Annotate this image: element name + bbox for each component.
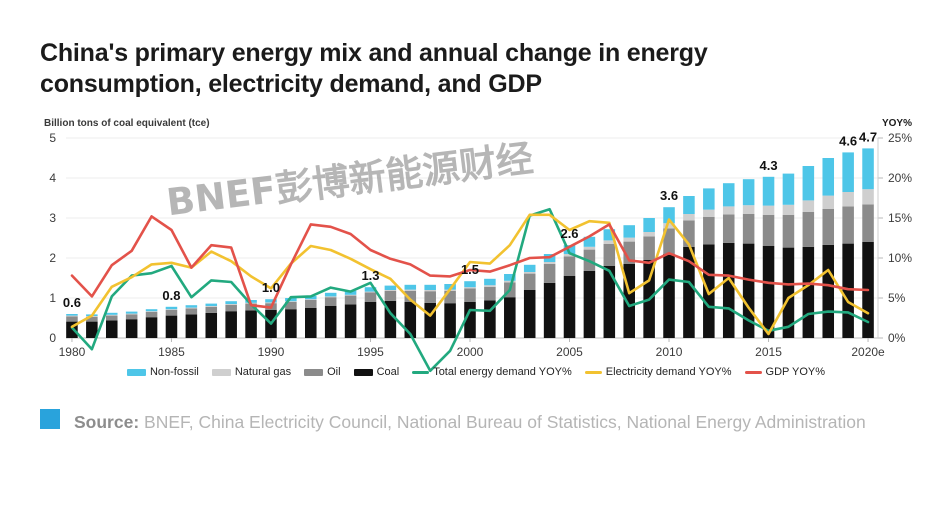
bar-segment bbox=[822, 158, 834, 196]
bar-segment bbox=[484, 279, 496, 285]
bar-segment bbox=[803, 247, 815, 338]
x-axis-tick-label: 2000 bbox=[457, 345, 484, 359]
bar-segment bbox=[186, 308, 198, 309]
y-axis-unit-label: Billion tons of coal equivalent (tce) bbox=[44, 118, 210, 129]
chart-page: China's primary energy mix and annual ch… bbox=[0, 0, 931, 511]
bar-segment bbox=[424, 290, 436, 291]
bar-segment bbox=[822, 245, 834, 338]
bar-segment bbox=[663, 254, 675, 338]
bar-segment bbox=[166, 307, 178, 309]
bar-segment bbox=[385, 290, 397, 291]
source-label: Source: bbox=[74, 412, 139, 432]
bar-value-label: 0.8 bbox=[162, 288, 180, 303]
bar-segment bbox=[623, 225, 635, 237]
bar-segment bbox=[106, 313, 118, 315]
legend-item-label: Natural gas bbox=[235, 366, 291, 378]
bar-segment bbox=[743, 214, 755, 244]
bar-segment bbox=[524, 265, 536, 272]
bar-segment bbox=[146, 317, 158, 338]
bar-segment bbox=[703, 217, 715, 245]
bar-segment bbox=[186, 305, 198, 307]
bar-segment bbox=[66, 316, 78, 321]
legend-item[interactable]: Electricity demand YOY% bbox=[585, 366, 732, 378]
page-title: China's primary energy mix and annual ch… bbox=[40, 38, 830, 100]
bar-segment bbox=[623, 238, 635, 242]
bar-segment bbox=[345, 296, 357, 305]
bar-segment bbox=[225, 301, 237, 304]
bar-segment bbox=[126, 314, 138, 315]
bar-segment bbox=[544, 262, 556, 264]
bar-segment bbox=[504, 281, 516, 283]
bar-segment bbox=[723, 183, 735, 206]
bar-segment bbox=[325, 306, 337, 338]
bar-segment bbox=[504, 297, 516, 338]
y-axis-right-tick-label: 15% bbox=[888, 211, 912, 225]
y-axis-tick-label: 2 bbox=[49, 251, 56, 265]
bar-segment bbox=[405, 285, 417, 290]
bar-segment bbox=[325, 297, 337, 306]
legend-swatch bbox=[354, 369, 373, 376]
source-text: BNEF, China Electricity Council, Nationa… bbox=[139, 412, 866, 432]
energy-mix-chart: 0123450%5%10%15%20%25%198019851990199520… bbox=[36, 120, 916, 375]
bar-segment bbox=[146, 309, 158, 311]
bar-segment bbox=[842, 206, 854, 243]
legend-item[interactable]: Natural gas bbox=[212, 366, 291, 378]
bar-segment bbox=[126, 314, 138, 319]
bar-segment bbox=[166, 309, 178, 310]
y-axis-tick-label: 5 bbox=[49, 131, 56, 145]
bar-value-label: 4.7 bbox=[859, 129, 877, 144]
bar-segment bbox=[205, 304, 217, 306]
bar-segment bbox=[186, 308, 198, 314]
legend-item-label: GDP YOY% bbox=[766, 366, 826, 378]
bar-segment bbox=[305, 308, 317, 338]
bar-segment bbox=[803, 212, 815, 247]
bar-segment bbox=[544, 264, 556, 283]
bar-value-label: 1.0 bbox=[262, 280, 280, 295]
bar-segment bbox=[325, 293, 337, 297]
legend-swatch bbox=[585, 371, 602, 374]
x-axis-tick-label: 2010 bbox=[656, 345, 683, 359]
bar-segment bbox=[524, 274, 536, 290]
legend-item[interactable]: Non-fossil bbox=[127, 366, 199, 378]
bar-segment bbox=[225, 311, 237, 338]
bar-segment bbox=[783, 205, 795, 215]
bar-segment bbox=[106, 320, 118, 338]
bar-segment bbox=[285, 309, 297, 338]
chart-legend: Non-fossilNatural gasOilCoalTotal energy… bbox=[36, 366, 916, 378]
bar-segment bbox=[146, 312, 158, 317]
bar-segment bbox=[842, 152, 854, 192]
legend-swatch bbox=[212, 369, 231, 376]
bar-segment bbox=[842, 244, 854, 338]
bar-segment bbox=[385, 291, 397, 301]
legend-item-label: Oil bbox=[327, 366, 340, 378]
bar-segment bbox=[186, 314, 198, 338]
source-accent-square bbox=[40, 409, 60, 429]
y-axis-tick-label: 4 bbox=[49, 171, 56, 185]
y-axis-right-tick-label: 25% bbox=[888, 131, 912, 145]
y-axis-tick-label: 0 bbox=[49, 331, 56, 345]
bar-segment bbox=[166, 310, 178, 316]
bar-segment bbox=[365, 292, 377, 302]
bar-segment bbox=[584, 271, 596, 338]
y-axis-right-tick-label: 20% bbox=[888, 171, 912, 185]
bar-segment bbox=[345, 295, 357, 296]
legend-item[interactable]: Coal bbox=[354, 366, 400, 378]
bar-segment bbox=[564, 276, 576, 338]
bar-segment bbox=[803, 166, 815, 200]
x-axis-tick-label: 1980 bbox=[59, 345, 86, 359]
bar-segment bbox=[166, 316, 178, 338]
bar-segment bbox=[305, 300, 317, 308]
bar-segment bbox=[205, 313, 217, 338]
bar-segment bbox=[146, 311, 158, 312]
bar-segment bbox=[126, 312, 138, 314]
bar-segment bbox=[424, 303, 436, 338]
bar-segment bbox=[106, 316, 118, 321]
bar-value-label: 0.6 bbox=[63, 295, 81, 310]
y-axis-tick-label: 1 bbox=[49, 291, 56, 305]
bar-segment bbox=[484, 285, 496, 287]
bar-segment bbox=[205, 307, 217, 313]
bar-segment bbox=[464, 287, 476, 288]
bar-value-label: 2.6 bbox=[560, 226, 578, 241]
legend-swatch bbox=[745, 371, 762, 374]
legend-item[interactable]: Oil bbox=[304, 366, 340, 378]
bar-segment bbox=[822, 209, 834, 245]
bar-segment bbox=[783, 174, 795, 205]
legend-item-label: Non-fossil bbox=[150, 366, 199, 378]
bar-segment bbox=[862, 204, 874, 242]
source-note: Source: BNEF, China Electricity Council,… bbox=[40, 405, 900, 439]
bar-segment bbox=[524, 272, 536, 274]
bar-value-label: 1.5 bbox=[461, 262, 479, 277]
bar-segment bbox=[424, 285, 436, 290]
bar-segment bbox=[305, 299, 317, 300]
bar-segment bbox=[842, 192, 854, 206]
x-axis-tick-label: 2020e bbox=[851, 345, 885, 359]
bar-segment bbox=[365, 302, 377, 338]
bar-segment bbox=[225, 305, 237, 311]
y-axis-right-tick-label: 10% bbox=[888, 251, 912, 265]
legend-swatch bbox=[304, 369, 323, 376]
bar-segment bbox=[106, 315, 118, 316]
x-axis-tick-label: 2015 bbox=[755, 345, 782, 359]
bar-segment bbox=[783, 215, 795, 248]
x-axis-tick-label: 1985 bbox=[158, 345, 185, 359]
bar-value-label: 4.3 bbox=[759, 158, 777, 173]
bar-segment bbox=[723, 214, 735, 242]
bar-segment bbox=[584, 247, 596, 250]
bar-segment bbox=[564, 256, 576, 276]
bar-segment bbox=[245, 310, 257, 338]
bar-segment bbox=[385, 286, 397, 290]
x-axis-tick-label: 1990 bbox=[258, 345, 285, 359]
bar-segment bbox=[763, 215, 775, 246]
y-axis-right-tick-label: 5% bbox=[888, 291, 906, 305]
chart-container: Billion tons of coal equivalent (tce) YO… bbox=[36, 120, 916, 395]
bar-segment bbox=[723, 243, 735, 338]
legend-item-label: Electricity demand YOY% bbox=[606, 366, 732, 378]
bar-segment bbox=[524, 290, 536, 338]
legend-item-label: Total energy demand YOY% bbox=[433, 366, 572, 378]
bar-segment bbox=[205, 306, 217, 307]
bar-segment bbox=[683, 196, 695, 214]
bar-segment bbox=[405, 290, 417, 291]
bar-segment bbox=[683, 214, 695, 220]
bar-segment bbox=[862, 148, 874, 189]
bar-segment bbox=[464, 281, 476, 287]
bar-segment bbox=[643, 218, 655, 232]
bar-segment bbox=[643, 232, 655, 236]
bar-value-label: 1.3 bbox=[361, 268, 379, 283]
bar-segment bbox=[225, 304, 237, 305]
bar-segment bbox=[723, 206, 735, 214]
bar-segment bbox=[126, 319, 138, 338]
bar-segment bbox=[544, 283, 556, 338]
y-axis-right-label: YOY% bbox=[882, 118, 912, 129]
bar-segment bbox=[325, 296, 337, 297]
legend-swatch bbox=[412, 371, 429, 374]
bar-segment bbox=[265, 302, 277, 303]
x-axis-tick-label: 1995 bbox=[357, 345, 384, 359]
bar-segment bbox=[424, 291, 436, 303]
y-axis-right-tick-label: 0% bbox=[888, 331, 906, 345]
bar-segment bbox=[604, 244, 616, 266]
bar-segment bbox=[464, 288, 476, 302]
legend-item-label: Coal bbox=[377, 366, 400, 378]
bar-segment bbox=[345, 304, 357, 338]
x-axis-tick-label: 2005 bbox=[556, 345, 583, 359]
bar-segment bbox=[862, 189, 874, 204]
bar-segment bbox=[66, 316, 78, 317]
bar-segment bbox=[763, 206, 775, 215]
bar-segment bbox=[743, 179, 755, 205]
legend-swatch bbox=[127, 369, 146, 376]
bar-segment bbox=[643, 236, 655, 260]
bar-segment bbox=[822, 196, 834, 209]
bar-segment bbox=[743, 205, 755, 214]
bar-segment bbox=[803, 200, 815, 212]
bar-segment bbox=[444, 303, 456, 338]
bar-value-label: 4.6 bbox=[839, 133, 857, 148]
bar-segment bbox=[763, 177, 775, 206]
bar-segment bbox=[66, 314, 78, 316]
bar-segment bbox=[365, 292, 377, 293]
legend-item[interactable]: Total energy demand YOY% bbox=[412, 366, 572, 378]
bar-segment bbox=[703, 188, 715, 209]
bar-segment bbox=[484, 287, 496, 301]
legend-item[interactable]: GDP YOY% bbox=[745, 366, 826, 378]
y-axis-tick-label: 3 bbox=[49, 211, 56, 225]
bar-value-label: 3.6 bbox=[660, 188, 678, 203]
bar-segment bbox=[703, 210, 715, 217]
